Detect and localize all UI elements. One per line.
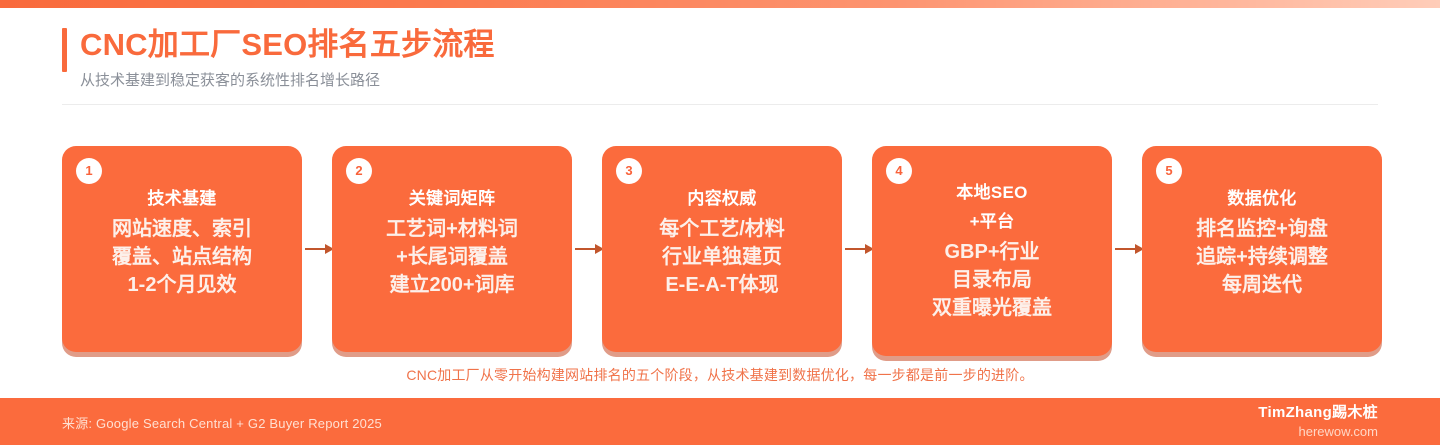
page-header: CNC加工厂SEO排名五步流程 从技术基建到稳定获客的系统性排名增长路径 [62, 24, 1378, 98]
arrow-right-icon [575, 243, 605, 255]
step-desc-line: 排名监控+询盘 [1152, 215, 1372, 243]
step-desc-line: 追踪+持续调整 [1152, 243, 1372, 271]
footer-brand: TimZhang踢木桩 herewow.com [1258, 403, 1378, 441]
step-title: 关键词矩阵 [342, 186, 562, 211]
step-desc-line: 建立200+词库 [342, 271, 562, 299]
footer-source-text: 来源: Google Search Central + G2 Buyer Rep… [62, 413, 382, 432]
step-number-badge: 2 [346, 158, 372, 184]
step-title: 数据优化 [1152, 186, 1372, 211]
arrow-right-icon [305, 243, 335, 255]
step-desc-line: 网站速度、索引 [72, 215, 292, 243]
step-title: +平台 [882, 209, 1102, 234]
step-desc-line: 1-2个月见效 [72, 271, 292, 299]
step-desc-line: GBP+行业 [882, 238, 1102, 266]
brand-name: TimZhang踢木桩 [1258, 403, 1378, 423]
arrow-right-icon [845, 243, 875, 255]
process-flow: 1 技术基建 网站速度、索引 覆盖、站点结构 1-2个月见效 2 关键词矩阵 工… [62, 146, 1382, 358]
step-number-badge: 5 [1156, 158, 1182, 184]
step-number-badge: 3 [616, 158, 642, 184]
step-content: 技术基建 网站速度、索引 覆盖、站点结构 1-2个月见效 [72, 186, 292, 299]
page-subtitle: 从技术基建到稳定获客的系统性排名增长路径 [80, 70, 380, 92]
step-desc-line: 工艺词+材料词 [342, 215, 562, 243]
step-content: 本地SEO +平台 GBP+行业 目录布局 双重曝光覆盖 [882, 180, 1102, 322]
brand-website: herewow.com [1258, 423, 1378, 441]
step-desc-line: 每周迭代 [1152, 271, 1372, 299]
flow-caption: CNC加工厂从零开始构建网站排名的五个阶段，从技术基建到数据优化，每一步都是前一… [0, 365, 1440, 385]
step-desc-line: 覆盖、站点结构 [72, 243, 292, 271]
step-number-badge: 1 [76, 158, 102, 184]
arrow-right-icon [1115, 243, 1145, 255]
step-title: 本地SEO [882, 180, 1102, 205]
header-divider [62, 104, 1378, 105]
page-title: CNC加工厂SEO排名五步流程 [80, 24, 495, 66]
step-content: 数据优化 排名监控+询盘 追踪+持续调整 每周迭代 [1152, 186, 1372, 299]
process-step-4[interactable]: 4 本地SEO +平台 GBP+行业 目录布局 双重曝光覆盖 [872, 146, 1112, 356]
page-footer: 来源: Google Search Central + G2 Buyer Rep… [0, 398, 1440, 445]
process-step-5[interactable]: 5 数据优化 排名监控+询盘 追踪+持续调整 每周迭代 [1142, 146, 1382, 352]
process-step-1[interactable]: 1 技术基建 网站速度、索引 覆盖、站点结构 1-2个月见效 [62, 146, 302, 352]
title-accent-bar [62, 28, 67, 72]
step-desc-line: 行业单独建页 [612, 243, 832, 271]
infographic-root: CNC加工厂SEO排名五步流程 从技术基建到稳定获客的系统性排名增长路径 1 技… [0, 0, 1440, 445]
step-title: 技术基建 [72, 186, 292, 211]
process-step-3[interactable]: 3 内容权威 每个工艺/材料 行业单独建页 E-E-A-T体现 [602, 146, 842, 352]
step-desc-line: 目录布局 [882, 266, 1102, 294]
process-step-2[interactable]: 2 关键词矩阵 工艺词+材料词 +长尾词覆盖 建立200+词库 [332, 146, 572, 352]
step-content: 关键词矩阵 工艺词+材料词 +长尾词覆盖 建立200+词库 [342, 186, 562, 299]
step-desc-line: +长尾词覆盖 [342, 243, 562, 271]
top-gradient-bar [0, 0, 1440, 8]
step-desc-line: 双重曝光覆盖 [882, 294, 1102, 322]
step-content: 内容权威 每个工艺/材料 行业单独建页 E-E-A-T体现 [612, 186, 832, 299]
step-desc-line: E-E-A-T体现 [612, 271, 832, 299]
step-desc-line: 每个工艺/材料 [612, 215, 832, 243]
step-title: 内容权威 [612, 186, 832, 211]
